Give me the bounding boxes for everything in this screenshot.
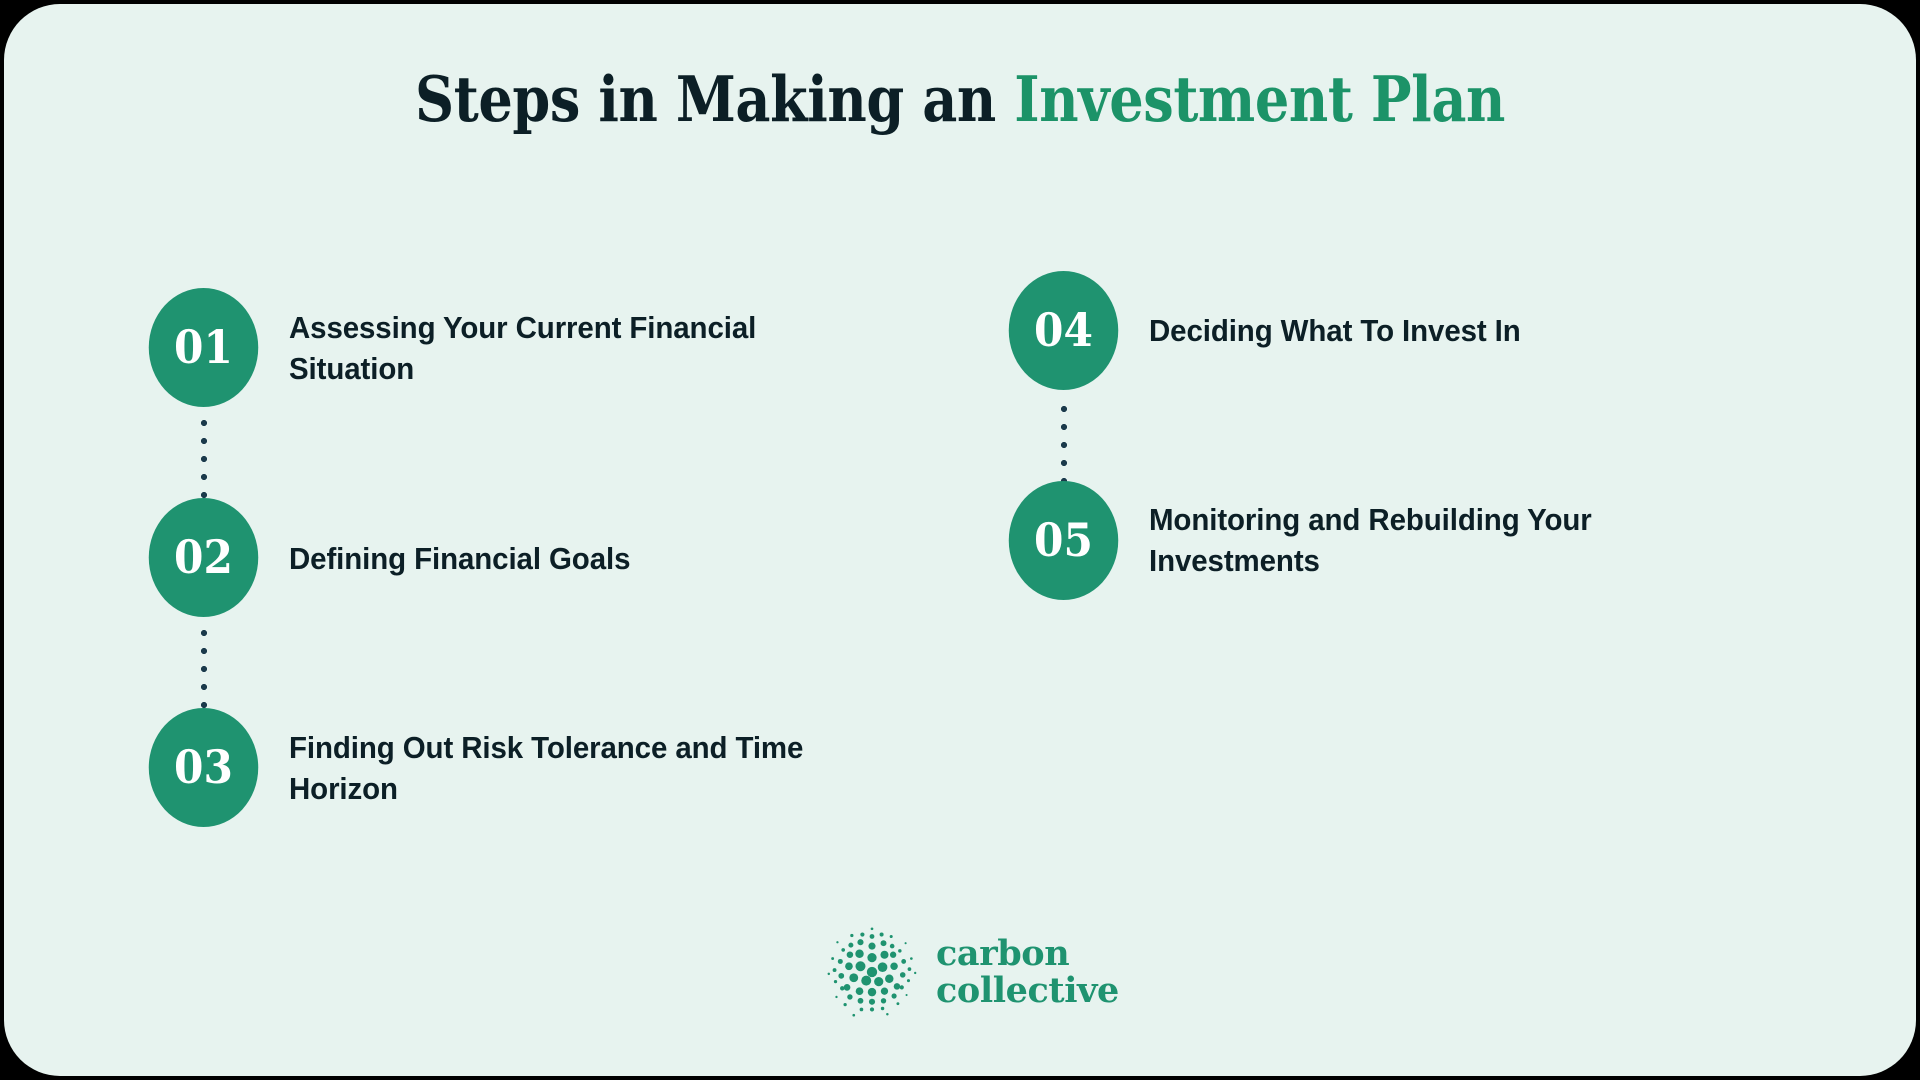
step-item-03[interactable]: 03 Finding Out Risk Tolerance and Time H… [144,708,849,827]
brand-logo: carbon collective [824,919,1104,1025]
step-label-02: Defining Financial Goals [289,538,821,579]
step-label-01: Assessing Your Current Financial Situati… [289,307,821,389]
step-item-02[interactable]: 02 Defining Financial Goals [144,498,849,617]
infographic-card: Steps in Making an Investment Plan 01 As… [4,4,1916,1076]
step-number-05: 05 [1034,517,1093,563]
step-number-04: 04 [1034,307,1093,353]
steps-columns: 01 Assessing Your Current Financial Situ… [4,4,1916,1076]
step-number-02: 02 [174,534,233,580]
step-number-badge-02: 02 [149,498,258,617]
step-number-badge-05: 05 [1009,481,1118,600]
step-label-05: Monitoring and Rebuilding Your Investmen… [1149,499,1738,581]
step-number-badge-03: 03 [149,708,258,827]
step-number-01: 01 [174,324,233,370]
step-item-05[interactable]: 05 Monitoring and Rebuilding Your Invest… [1004,481,1769,600]
step-number-badge-01: 01 [149,288,258,407]
logo-line-2: collective [936,972,1119,1009]
step-item-01[interactable]: 01 Assessing Your Current Financial Situ… [144,288,849,407]
dot-cluster-icon [824,924,920,1020]
logo-wordmark: carbon collective [936,935,1119,1009]
step-number-badge-04: 04 [1009,271,1118,390]
step-label-04: Deciding What To Invest In [1149,310,1738,351]
step-number-03: 03 [174,744,233,790]
step-item-04[interactable]: 04 Deciding What To Invest In [1004,271,1769,390]
logo-line-1: carbon [936,935,1119,972]
step-label-03: Finding Out Risk Tolerance and Time Hori… [289,727,821,809]
